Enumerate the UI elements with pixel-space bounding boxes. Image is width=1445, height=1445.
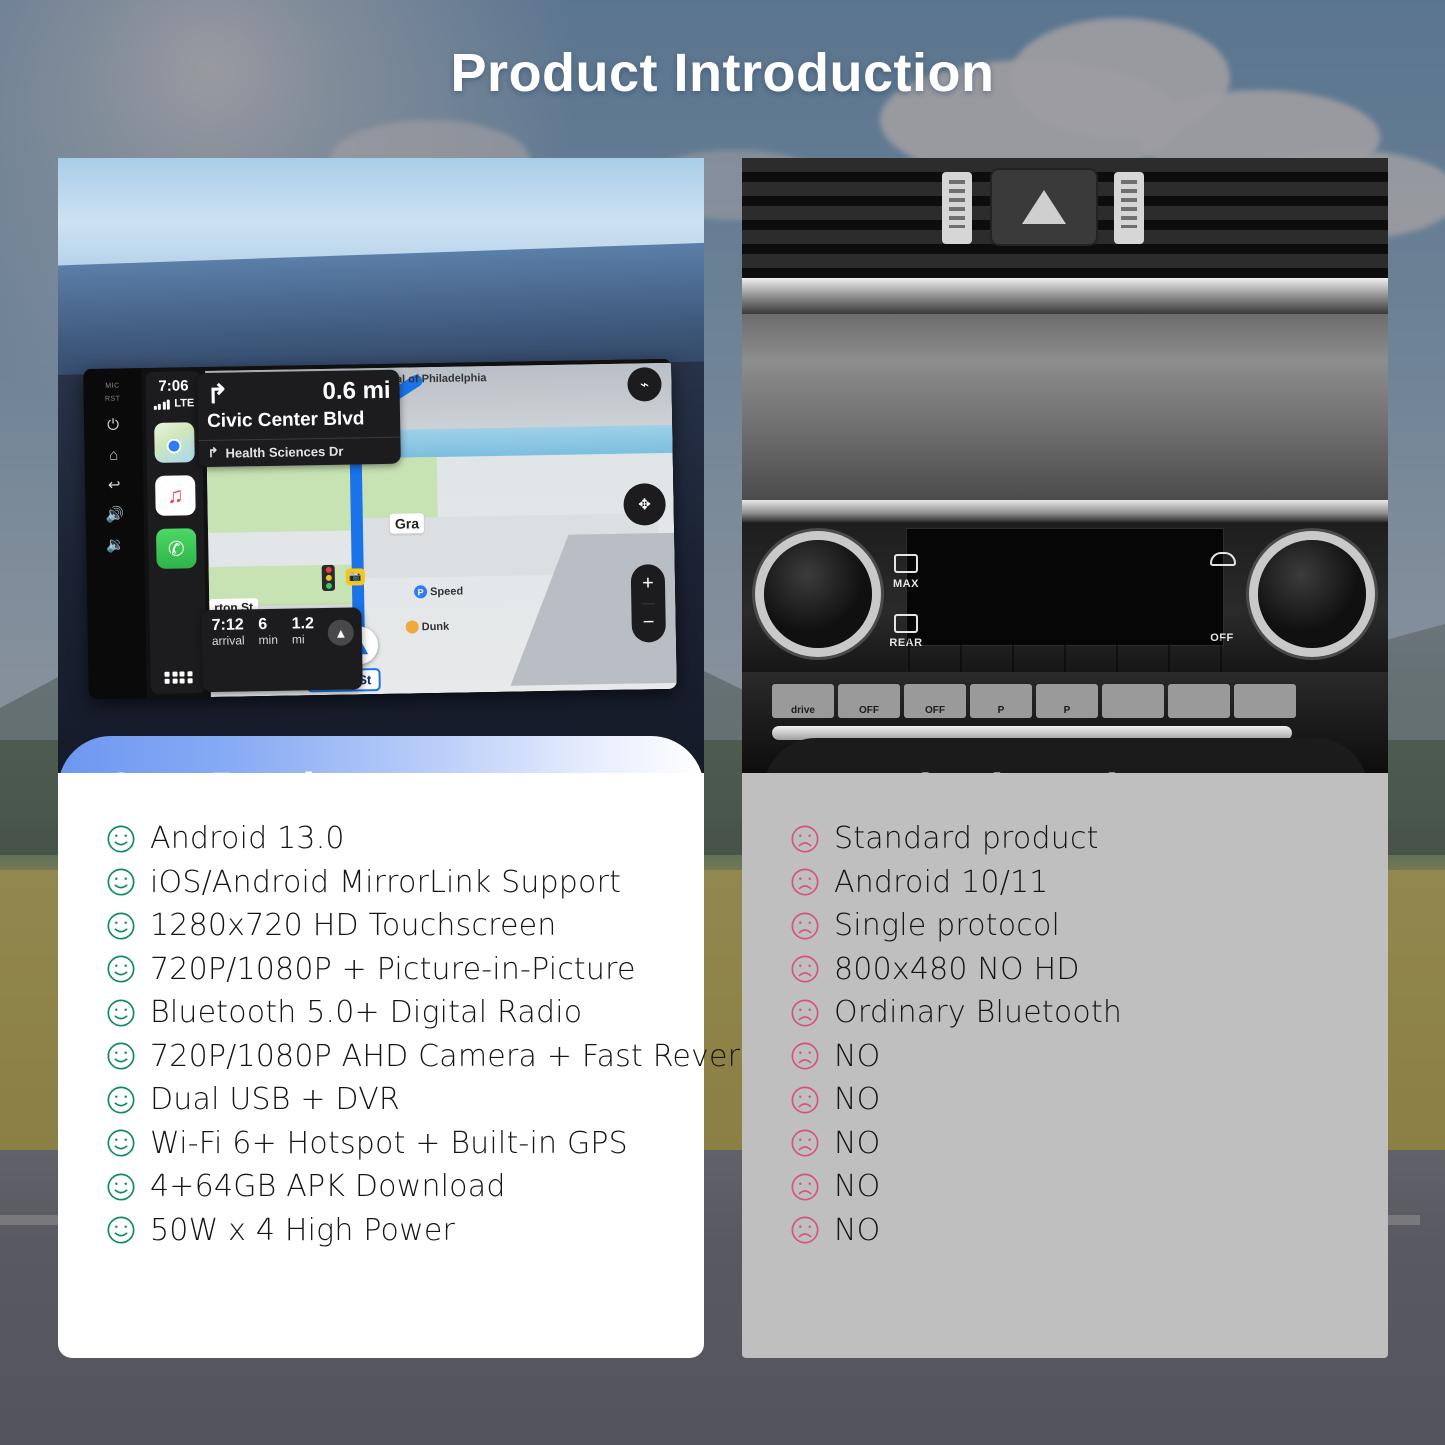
poi-speed: P Speed <box>414 585 463 599</box>
windshield-icon[interactable] <box>1210 552 1236 566</box>
smiley-face-icon <box>106 1041 136 1071</box>
feature-row: NO <box>742 1122 1388 1166</box>
hazard-triangle-icon[interactable] <box>990 168 1098 246</box>
climate-control-panel: MAX REAR OFF <box>742 522 1388 672</box>
feature-row: NO <box>742 1209 1388 1253</box>
standard-product-column: MAX REAR OFF driveOFFOFFPP Standard prod… <box>742 158 1388 1358</box>
feature-row: Dual USB + DVR <box>58 1078 704 1122</box>
music-app-icon[interactable]: ♫ <box>155 475 196 516</box>
poi-dunkin: Dunk <box>406 620 450 634</box>
feature-label: Single protocol <box>834 908 1060 943</box>
nav-street-name: Civic Center Blvd <box>198 408 400 441</box>
console-button-row: driveOFFOFFPP <box>772 684 1296 718</box>
signal-strength-icon: LTE <box>153 397 194 410</box>
zoom-control[interactable]: + − <box>631 564 666 643</box>
feature-label: NO <box>834 1213 880 1248</box>
feature-row: Single protocol <box>742 904 1388 948</box>
feature-row: 800x480 NO HD <box>742 948 1388 992</box>
standard-product-panel: Standard productAndroid 10/11Single prot… <box>742 773 1388 1358</box>
eta-distance-label: mi <box>292 633 314 647</box>
standard-product-photo: MAX REAR OFF driveOFFOFFPP Standard prod… <box>742 158 1388 773</box>
feature-row: Android 10/11 <box>742 861 1388 905</box>
max-label: MAX <box>886 578 926 590</box>
smiley-face-icon <box>106 954 136 984</box>
standard-product-header-label: Standard product <box>804 763 1187 773</box>
temperature-knob-left[interactable] <box>764 540 872 648</box>
app-grid-icon[interactable] <box>165 671 193 684</box>
navigation-banner: ↱ 0.6 mi Civic Center Blvd ↱ Health Scie… <box>197 370 401 468</box>
feature-label: Dual USB + DVR <box>150 1082 400 1117</box>
feature-row: NO <box>742 1078 1388 1122</box>
feature-row: Bluetooth 5.0+ Digital Radio <box>58 991 704 1035</box>
power-icon[interactable]: ⏻ <box>107 418 119 433</box>
feature-row: 720P/1080P AHD Camera + Fast Reverse <box>58 1035 704 1079</box>
our-product-photo: MIC RST ⏻ ⌂ ↩ 🔊 🔉 <box>58 158 704 773</box>
page-title: Product Introduction <box>0 42 1445 104</box>
network-label: LTE <box>174 397 194 409</box>
home-icon[interactable]: ⌂ <box>109 448 118 463</box>
frowning-face-icon <box>790 911 820 941</box>
feature-label: Wi-Fi 6+ Hotspot + Built-in GPS <box>150 1126 628 1161</box>
feature-row: 720P/1080P + Picture-in-Picture <box>58 948 704 992</box>
eta-arrival-time: 7:12 <box>212 617 245 634</box>
frowning-face-icon <box>790 954 820 984</box>
feature-label: Standard product <box>834 821 1099 856</box>
maps-app-icon[interactable] <box>154 422 195 463</box>
head-unit-bezel: MIC RST ⏻ ⌂ ↩ 🔊 🔉 <box>83 368 147 699</box>
feature-label: Android 10/11 <box>834 865 1049 900</box>
frowning-face-icon <box>790 824 820 854</box>
feature-label: NO <box>834 1039 880 1074</box>
eta-distance-value: 1.2 <box>292 616 315 633</box>
feature-label: 4+64GB APK Download <box>150 1169 506 1204</box>
feature-row: 1280x720 HD Touchscreen <box>58 904 704 948</box>
zoom-in-button[interactable]: + <box>642 564 654 603</box>
nav-distance: 0.6 mi <box>322 377 391 406</box>
frowning-face-icon <box>790 1172 820 1202</box>
our-product-column: MIC RST ⏻ ⌂ ↩ 🔊 🔉 <box>58 158 704 1358</box>
chevron-up-icon[interactable]: ▲ <box>328 619 354 645</box>
nav-next-street: Health Sciences Dr <box>225 443 343 460</box>
chrome-trim <box>742 278 1388 314</box>
parking-dot-icon: P <box>414 585 427 598</box>
eta-duration-label: min <box>258 634 278 648</box>
feature-label: iOS/Android MirrorLink Support <box>150 865 621 900</box>
head-unit-screen[interactable]: Center Blvd Children's Hospital of Phila… <box>141 359 677 698</box>
climate-display <box>906 528 1224 646</box>
feature-label: Android 13.0 <box>150 821 345 856</box>
feature-row: Android 13.0 <box>58 817 704 861</box>
standard-product-header: Standard product <box>764 738 1368 773</box>
turn-right-small-icon: ↱ <box>208 445 219 461</box>
zoom-out-button[interactable]: − <box>642 603 654 643</box>
status-time: 7:06 <box>158 377 188 395</box>
console-button[interactable]: P <box>970 684 1032 718</box>
feature-row: 50W x 4 High Power <box>58 1209 704 1253</box>
our-product-header: Our Product <box>58 736 704 773</box>
car-console-grayscale: MAX REAR OFF driveOFFOFFPP <box>742 158 1388 773</box>
back-icon[interactable]: ↩ <box>108 478 121 493</box>
frowning-face-icon <box>790 1128 820 1158</box>
phone-app-icon[interactable]: ✆ <box>156 528 197 569</box>
feature-row: Wi-Fi 6+ Hotspot + Built-in GPS <box>58 1122 704 1166</box>
console-button[interactable] <box>1234 684 1296 718</box>
traffic-light-icon <box>322 565 335 591</box>
feature-label: Bluetooth 5.0+ Digital Radio <box>150 995 582 1030</box>
feature-row: 4+64GB APK Download <box>58 1165 704 1209</box>
car-head-unit: MIC RST ⏻ ⌂ ↩ 🔊 🔉 <box>83 359 677 699</box>
frowning-face-icon <box>790 1085 820 1115</box>
eta-arrival-label: arrival <box>212 634 245 648</box>
center-vent-bar <box>908 638 1228 672</box>
smiley-face-icon <box>106 1085 136 1115</box>
street-label-right: Gra <box>390 513 424 534</box>
smiley-face-icon <box>106 1172 136 1202</box>
console-button[interactable]: OFF <box>904 684 966 718</box>
eta-arrival: 7:12 arrival <box>212 617 246 692</box>
vent-slider-right[interactable] <box>1114 172 1144 244</box>
vent-slider-left[interactable] <box>942 172 972 244</box>
feature-label: 1280x720 HD Touchscreen <box>150 908 557 943</box>
feature-row: Standard product <box>742 817 1388 861</box>
console-button[interactable]: P <box>1036 684 1098 718</box>
smiley-face-icon <box>106 867 136 897</box>
smiley-face-icon <box>106 1215 136 1245</box>
eta-distance: 1.2 mi <box>292 616 316 690</box>
console-button[interactable] <box>1168 684 1230 718</box>
eta-duration: 6 min <box>258 617 279 691</box>
frowning-face-icon <box>790 1041 820 1071</box>
mic-label: MIC <box>105 383 119 390</box>
console-button[interactable] <box>1102 684 1164 718</box>
feature-row: Ordinary Bluetooth <box>742 991 1388 1035</box>
chrome-trim <box>742 500 1388 522</box>
feature-label: NO <box>834 1126 880 1161</box>
smiley-face-icon <box>106 911 136 941</box>
eta-card[interactable]: 7:12 arrival 6 min 1.2 mi ▲ <box>201 607 362 692</box>
feature-row: NO <box>742 1035 1388 1079</box>
frowning-face-icon <box>790 1215 820 1245</box>
standard-product-feature-list: Standard productAndroid 10/11Single prot… <box>742 817 1388 1252</box>
eta-duration-value: 6 <box>258 617 278 634</box>
coffee-dot-icon <box>406 620 419 633</box>
temperature-knob-right[interactable] <box>1258 540 1366 648</box>
volume-up-icon[interactable]: 🔊 <box>105 507 124 522</box>
frowning-face-icon <box>790 867 820 897</box>
our-product-feature-list: Android 13.0iOS/Android MirrorLink Suppo… <box>58 817 704 1252</box>
wood-trim-panel <box>742 314 1388 500</box>
our-product-panel: Android 13.0iOS/Android MirrorLink Suppo… <box>58 773 704 1358</box>
front-defrost-icon[interactable] <box>894 554 918 573</box>
feature-label: Ordinary Bluetooth <box>834 995 1122 1030</box>
volume-down-icon[interactable]: 🔉 <box>106 537 125 552</box>
smiley-face-icon <box>106 998 136 1028</box>
feature-row: iOS/Android MirrorLink Support <box>58 861 704 905</box>
smiley-face-icon <box>106 824 136 854</box>
feature-label: NO <box>834 1169 880 1204</box>
smiley-face-icon <box>106 1128 136 1158</box>
console-button[interactable]: OFF <box>838 684 900 718</box>
our-product-header-label: Our Product <box>103 762 384 773</box>
feature-label: 720P/1080P AHD Camera + Fast Reverse <box>150 1039 775 1074</box>
feature-label: NO <box>834 1082 880 1117</box>
console-button[interactable]: drive <box>772 684 834 718</box>
feature-label: 50W x 4 High Power <box>150 1213 455 1248</box>
rear-defrost-icon[interactable] <box>894 614 918 633</box>
frowning-face-icon <box>790 998 820 1028</box>
feature-row: NO <box>742 1165 1388 1209</box>
feature-label: 720P/1080P + Picture-in-Picture <box>150 952 636 987</box>
speed-camera-icon: 📷 <box>346 568 365 585</box>
feature-label: 800x480 NO HD <box>834 952 1080 987</box>
rst-label: RST <box>105 396 121 403</box>
turn-right-icon: ↱ <box>206 381 228 407</box>
